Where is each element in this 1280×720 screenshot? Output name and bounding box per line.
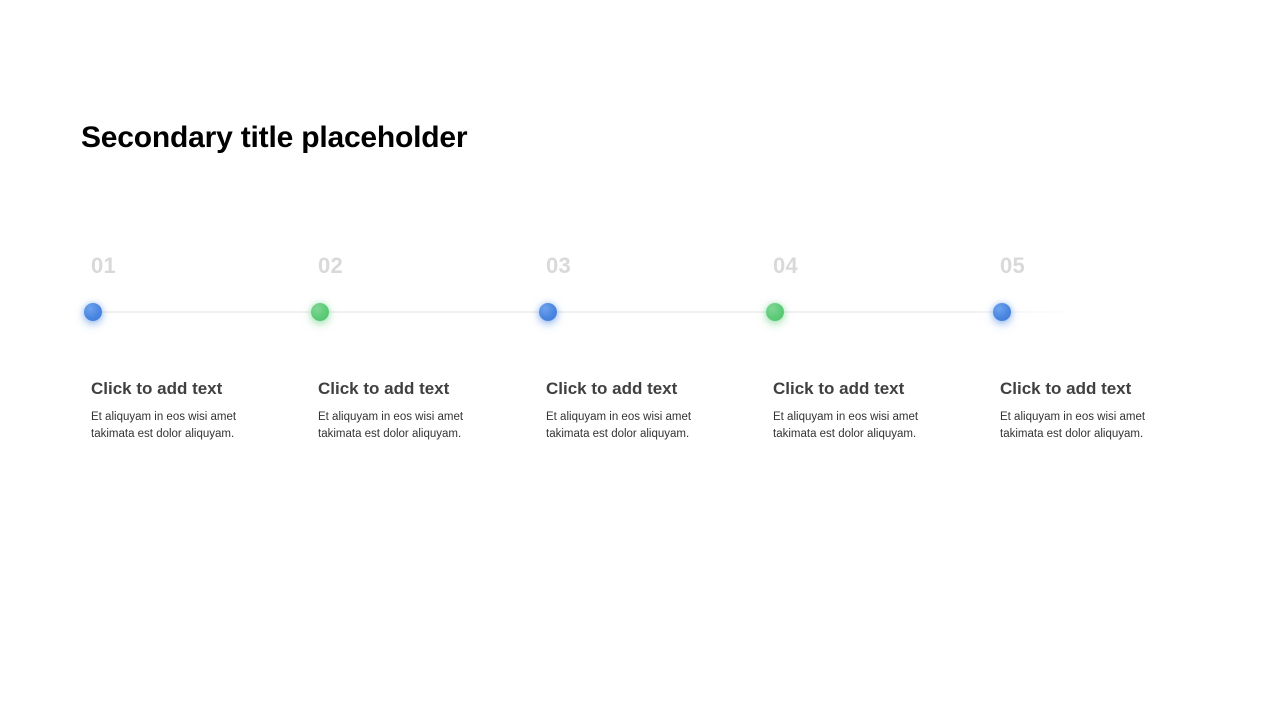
timeline-dot-blue bbox=[990, 300, 1014, 324]
step-description[interactable]: Et aliquyam in eos wisi amet takimata es… bbox=[773, 409, 945, 443]
step-text-block: Click to add text Et aliquyam in eos wis… bbox=[91, 378, 269, 443]
step-number-label[interactable]: 03 bbox=[546, 253, 571, 279]
timeline-dot-blue-icon bbox=[84, 303, 102, 321]
step-text-block: Click to add text Et aliquyam in eos wis… bbox=[318, 378, 496, 443]
timeline-dot-blue bbox=[81, 300, 105, 324]
step-number-label[interactable]: 02 bbox=[318, 253, 343, 279]
step-heading[interactable]: Click to add text bbox=[1000, 378, 1178, 400]
step-description[interactable]: Et aliquyam in eos wisi amet takimata es… bbox=[1000, 409, 1172, 443]
step-heading[interactable]: Click to add text bbox=[318, 378, 496, 400]
step-text-block: Click to add text Et aliquyam in eos wis… bbox=[546, 378, 724, 443]
timeline: 01 Click to add text Et aliquyam in eos … bbox=[81, 240, 1199, 470]
timeline-dot-blue-icon bbox=[539, 303, 557, 321]
step-heading[interactable]: Click to add text bbox=[546, 378, 724, 400]
timeline-dot-green bbox=[308, 300, 332, 324]
timeline-dot-blue bbox=[536, 300, 560, 324]
step-text-block: Click to add text Et aliquyam in eos wis… bbox=[773, 378, 951, 443]
step-number-label[interactable]: 05 bbox=[1000, 253, 1025, 279]
step-description[interactable]: Et aliquyam in eos wisi amet takimata es… bbox=[318, 409, 490, 443]
timeline-dot-green bbox=[763, 300, 787, 324]
slide-canvas: Secondary title placeholder 01 Click to … bbox=[0, 0, 1280, 720]
step-heading[interactable]: Click to add text bbox=[91, 378, 269, 400]
timeline-dot-green-icon bbox=[311, 303, 329, 321]
timeline-dot-blue-icon bbox=[993, 303, 1011, 321]
step-description[interactable]: Et aliquyam in eos wisi amet takimata es… bbox=[546, 409, 718, 443]
step-text-block: Click to add text Et aliquyam in eos wis… bbox=[1000, 378, 1178, 443]
step-heading[interactable]: Click to add text bbox=[773, 378, 951, 400]
timeline-dot-green-icon bbox=[766, 303, 784, 321]
step-description[interactable]: Et aliquyam in eos wisi amet takimata es… bbox=[91, 409, 263, 443]
step-number-label[interactable]: 01 bbox=[91, 253, 116, 279]
timeline-steps: 01 Click to add text Et aliquyam in eos … bbox=[81, 240, 1199, 470]
page-title[interactable]: Secondary title placeholder bbox=[81, 118, 467, 158]
step-number-label[interactable]: 04 bbox=[773, 253, 798, 279]
